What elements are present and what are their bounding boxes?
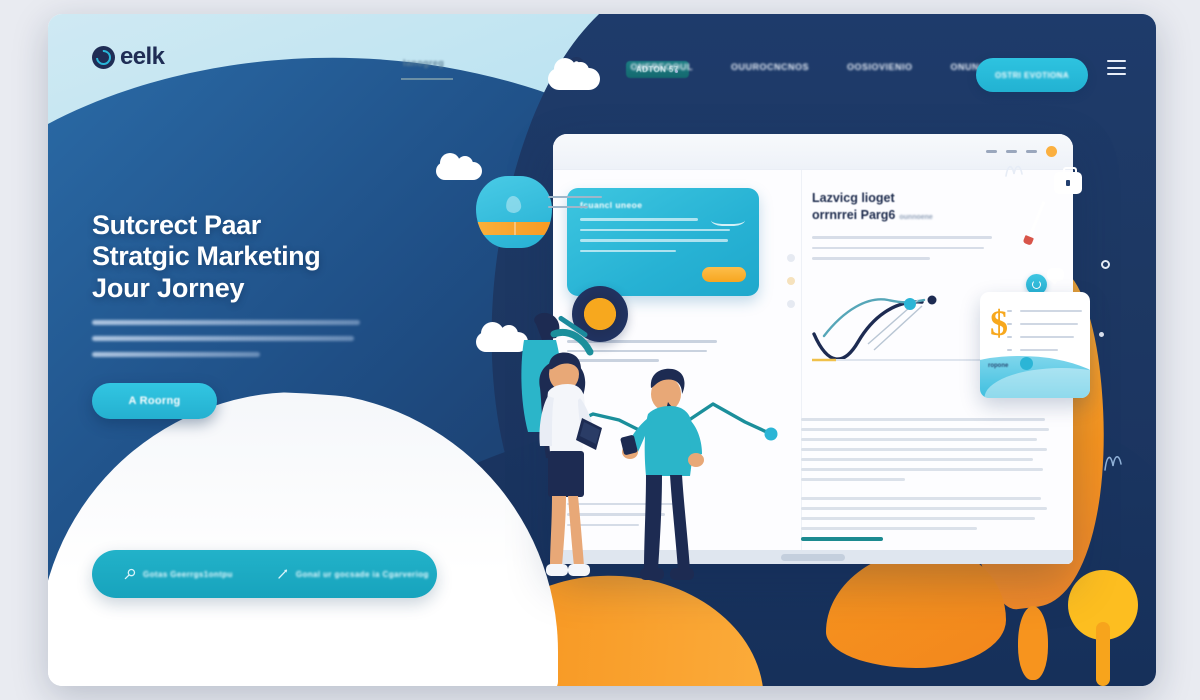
browser-body-text [801,418,1051,541]
people-illustration [518,310,728,602]
right-panel-paragraph [812,236,1055,260]
hero-cta-button[interactable]: A Roorng [92,383,217,419]
cyan-tab-shape [476,176,552,248]
orange-small-leaf-shape [1018,606,1048,680]
browser-footer-nub [781,554,845,561]
right-panel-title-line-2: orrnrrei Parg6 [812,208,895,222]
feature-card-title: fcuancl uneoe [580,200,746,210]
magnifier-icon [124,568,136,580]
small-dot-icon [1099,332,1104,337]
squiggle-icon-lower [1102,446,1124,472]
money-card-badge [1020,357,1033,370]
dollar-sign-icon: $ [990,305,1008,341]
hero-heading-line-2: Stratgic Marketing [92,241,320,271]
man-with-phone [620,369,704,580]
feature-item-1[interactable]: Gotas Geerrgs1ontpu [92,568,233,580]
swirl-circle-icon [92,46,115,69]
right-panel-title: Lazvicg lioget orrnrrei Parg6ounnoene [812,190,1055,223]
hero-heading-line-1: Sutcrect Paar [92,210,261,240]
browser-titlebar [553,134,1073,170]
minimize-dash-icon[interactable] [986,150,997,153]
briefcase-icon [1054,172,1082,194]
money-card-label: ropone [988,363,1008,369]
screenshot-stage: eelk lanogreg ADTON 57 ONEREOOUL OUUROCN… [0,0,1200,700]
card-action-pill[interactable] [702,267,746,282]
close-dot-icon[interactable] [1046,146,1057,157]
squiggle-icon [1004,162,1028,180]
yellow-stem-shape [1096,622,1110,686]
orange-band [476,222,552,235]
feature-item-2-label: Gonal ur gocsade ia Cgarveriog [296,570,429,579]
feature-item-2[interactable]: Gonal ur gocsade ia Cgarveriog [233,568,429,580]
feature-bar: Gotas Geerrgs1ontpu Gonal ur gocsade ia … [92,550,437,598]
dual-curve-chart [810,278,988,370]
speech-bubble-icon [1047,268,1064,281]
site-header: eelk [48,14,1156,100]
brand-name: eelk [120,43,164,71]
wave-line-icon [711,212,745,226]
hero-cta-label: A Roorng [128,395,180,407]
hero-paragraph [92,320,422,357]
hero-heading: Sutcrect Paar Stratgic Marketing Jour Jo… [92,210,422,304]
woman-with-tablet [539,353,602,576]
cloud-icon-upper [436,162,482,180]
small-ring-icon [1101,260,1110,269]
restore-dash-icon[interactable] [1026,150,1037,153]
tab-text-lines [548,196,602,216]
hero-section: Sutcrect Paar Stratgic Marketing Jour Jo… [92,210,422,419]
rocket-icon [277,568,289,580]
hero-heading-line-3: Jour Jorney [92,273,244,303]
landing-page-card: eelk lanogreg ADTON 57 ONEREOOUL OUUROCN… [48,14,1156,686]
droplet-icon [505,195,522,213]
money-card-rows [1020,310,1082,362]
read-more-link[interactable] [801,537,883,541]
money-card: $ ropone [980,292,1090,398]
right-panel-title-suffix: ounnoene [899,213,932,222]
brand-logo[interactable]: eelk [92,43,164,71]
right-panel-title-line-1: Lazvicg lioget [812,191,895,205]
maximize-dash-icon[interactable] [1006,150,1017,153]
left-panel-dots [787,254,795,308]
feature-item-1-label: Gotas Geerrgs1ontpu [143,570,233,579]
